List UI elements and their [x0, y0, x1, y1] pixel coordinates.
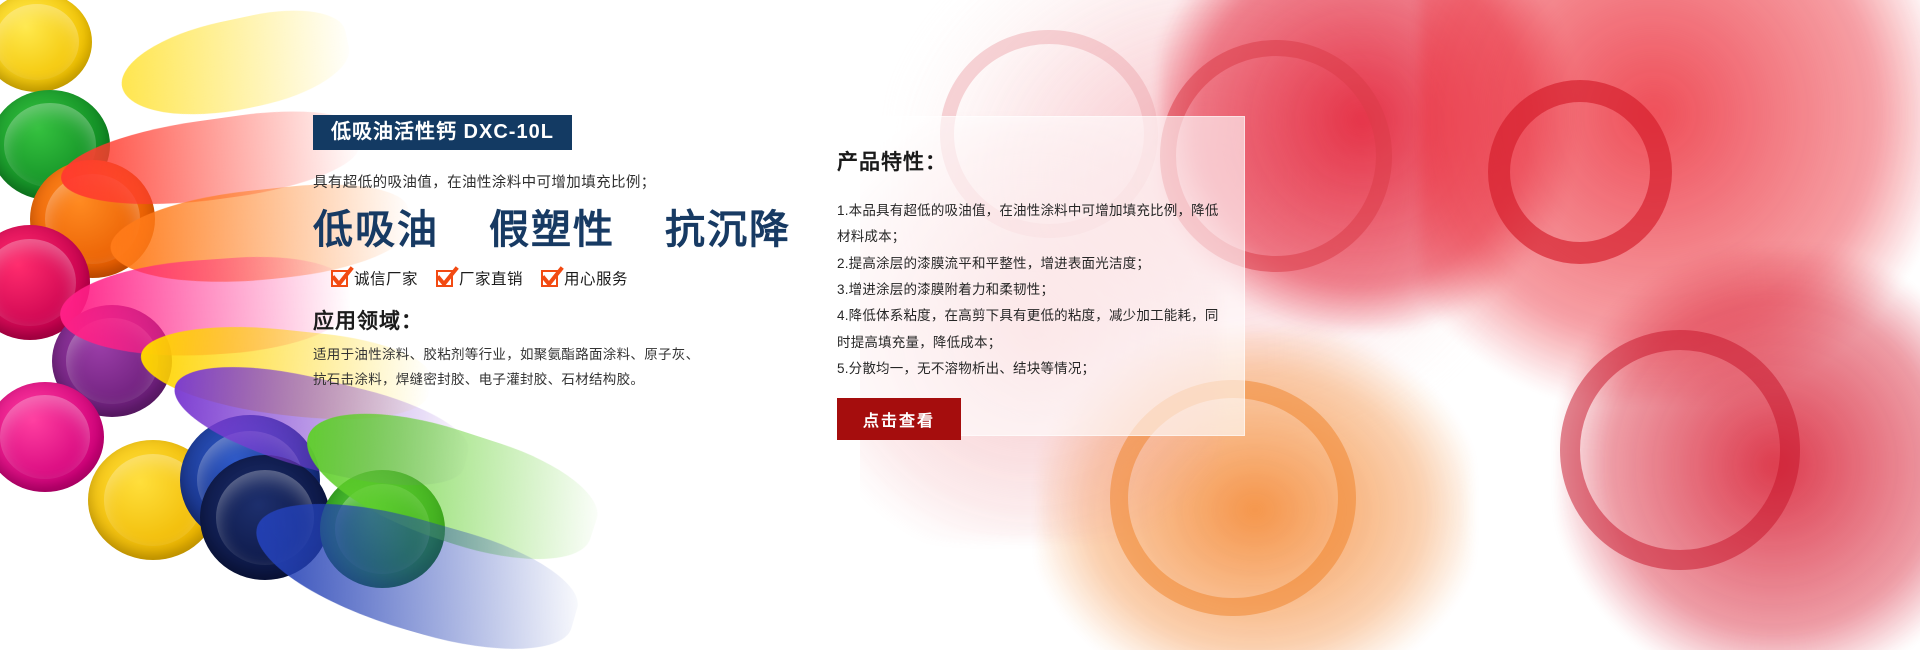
trust-badges: 诚信厂家 厂家直销 用心服务 [313, 267, 733, 289]
trust-badge-label: 厂家直销 [459, 267, 523, 289]
paint-smear-yellow [113, 0, 357, 133]
features-panel-inner: 产品特性： 1.本品具有超低的吸油值，在油性涂料中可增加填充比例，降低材料成本；… [837, 146, 1227, 440]
paint-can-orange [30, 160, 155, 278]
paint-can-green [0, 90, 110, 200]
trust-badge-3: 用心服务 [541, 267, 628, 289]
check-square-icon [331, 270, 348, 287]
feature-item: 4.降低体系粘度，在高剪下具有更低的粘度，减少加工能耗，同时提高填充量，降低成本… [837, 303, 1227, 356]
features-list: 1.本品具有超低的吸油值，在油性涂料中可增加填充比例，降低材料成本； 2.提高涂… [837, 198, 1227, 382]
paint-ring-2 [1488, 80, 1672, 264]
paint-smear-green [290, 386, 609, 583]
application-title: 应用领域： [313, 305, 733, 335]
paint-can-green-2 [320, 470, 445, 588]
paint-can-purple [52, 305, 172, 417]
product-tag: 低吸油活性钙 DXC-10L [313, 115, 572, 150]
paint-can-yellow-2 [88, 440, 218, 560]
paint-can-magenta [0, 382, 104, 492]
trust-badge-label: 诚信厂家 [354, 267, 418, 289]
trust-badge-label: 用心服务 [564, 267, 628, 289]
paint-can-yellow [0, 0, 92, 92]
features-title: 产品特性： [837, 146, 1227, 176]
check-square-icon [541, 270, 558, 287]
check-square-icon [436, 270, 453, 287]
paint-can-crimson [0, 225, 90, 340]
headline-part-2: 假塑性 [489, 207, 615, 252]
paint-smear-magenta [57, 250, 353, 365]
trust-badge-2: 厂家直销 [436, 267, 523, 289]
features-panel: 产品特性： 1.本品具有超低的吸油值，在油性涂料中可增加填充比例，降低材料成本；… [805, 116, 1245, 436]
paint-can-navy [200, 455, 330, 580]
paint-can-blue [180, 415, 320, 545]
banner-copy: 低吸油活性钙 DXC-10L 具有超低的吸油值，在油性涂料中可增加填充比例； 低… [313, 115, 733, 393]
headline-part-1: 低吸油 [313, 207, 439, 252]
feature-item: 2.提高涂层的漆膜流平和平整性，增进表面光洁度； [837, 251, 1227, 277]
headline-part-3: 抗沉降 [665, 207, 791, 252]
feature-item: 1.本品具有超低的吸油值，在油性涂料中可增加填充比例，降低材料成本； [837, 198, 1227, 251]
banner-stage: 低吸油活性钙 DXC-10L 具有超低的吸油值，在油性涂料中可增加填充比例； 低… [0, 0, 1920, 650]
feature-item: 5.分散均一，无不溶物析出、结块等情况； [837, 356, 1227, 382]
view-details-button[interactable]: 点击查看 [837, 398, 961, 440]
watercolor-blob-deep-red [1560, 250, 1920, 650]
headline: 低吸油 假塑性 抗沉降 [313, 207, 733, 253]
paint-ring-3 [1560, 330, 1800, 570]
feature-item: 3.增进涂层的漆膜附着力和柔韧性； [837, 277, 1227, 303]
product-subtitle: 具有超低的吸油值，在油性涂料中可增加填充比例； [313, 172, 733, 195]
application-body: 适用于油性涂料、胶粘剂等行业，如聚氨酯路面涂料、原子灰、抗石击涂料，焊缝密封胶、… [313, 343, 713, 393]
trust-badge-1: 诚信厂家 [331, 267, 418, 289]
paint-smear-blue [241, 477, 589, 650]
watercolor-blob-red-right [1420, 0, 1920, 400]
